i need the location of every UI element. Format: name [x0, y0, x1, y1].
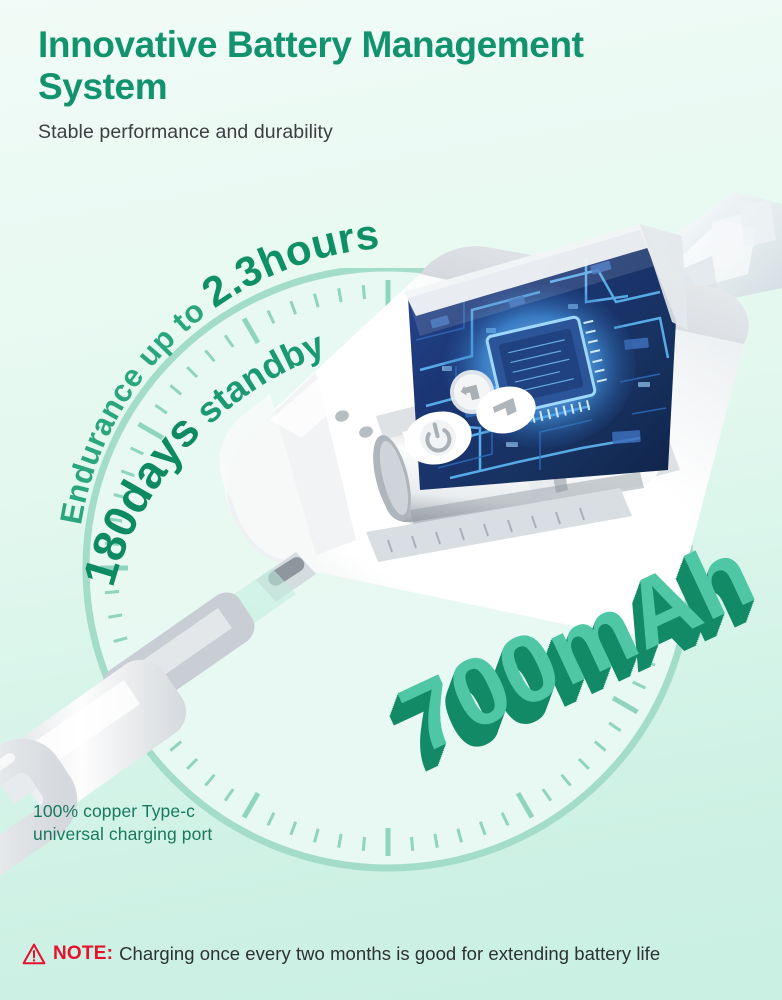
note-text: Charging once every two months is good f… — [119, 943, 660, 965]
note-label: NOTE: — [53, 943, 113, 965]
page-title: Innovative Battery Management System — [38, 24, 738, 108]
note-bar: NOTE: Charging once every two months is … — [0, 932, 782, 976]
header: Innovative Battery Management System Sta… — [38, 24, 738, 144]
page-subtitle: Stable performance and durability — [38, 121, 738, 144]
infographic-page: Innovative Battery Management System Sta… — [0, 0, 782, 1000]
charging-port-caption: 100% copper Type-c universal charging po… — [33, 800, 212, 846]
warning-triangle-icon — [22, 942, 46, 966]
